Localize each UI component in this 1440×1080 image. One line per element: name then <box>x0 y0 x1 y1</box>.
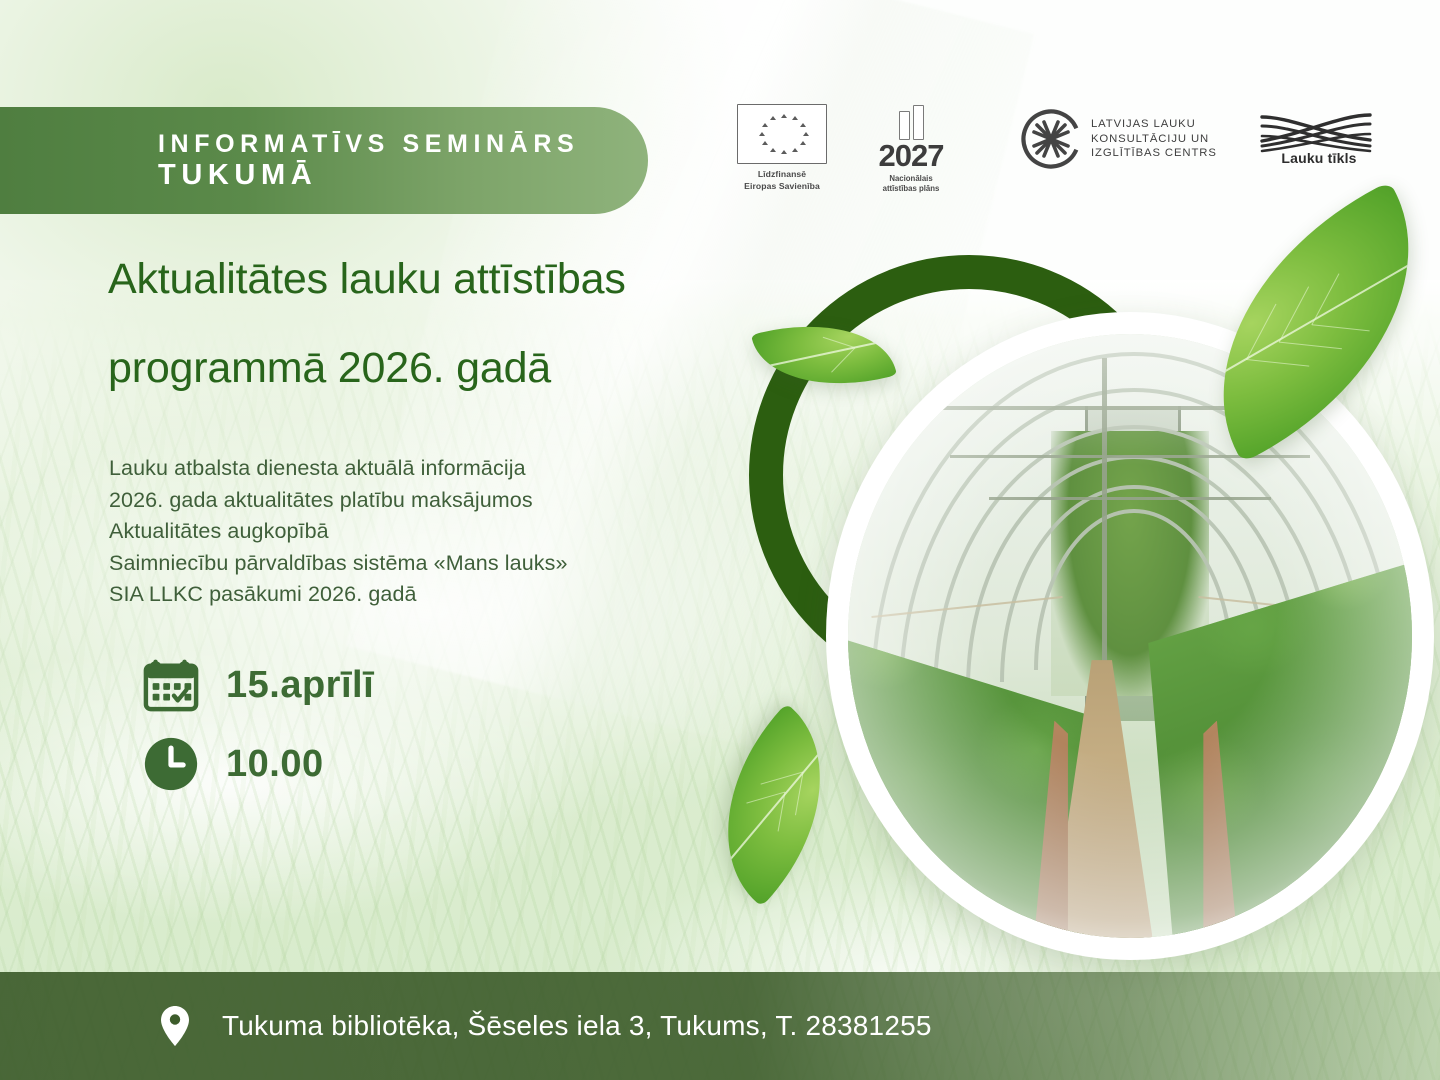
ribbon-line-1: INFORMATĪVS SEMINĀRS <box>158 130 648 160</box>
eu-caption: Līdzfinansē Eiropas Savienība <box>718 169 846 192</box>
eu-flag-icon <box>737 104 827 164</box>
eu-logo: Līdzfinansē Eiropas Savienība <box>718 104 846 192</box>
logo-strip: Līdzfinansē Eiropas Savienība 2027 Nacio… <box>718 104 1378 200</box>
eu-caption-line-1: Līdzfinansē <box>718 169 846 181</box>
venue-footer: Tukuma bibliotēka, Šēseles iela 3, Tukum… <box>0 972 1440 1080</box>
llkc-caption-line-3: IZGLĪTĪBAS CENTRS <box>1091 146 1217 161</box>
llkc-logo: LATVIJAS LAUKU KONSULTĀCIJU UN IZGLĪTĪBA… <box>1020 104 1250 170</box>
topic-item: SIA LLKC pasākumi 2026. gadā <box>109 579 749 611</box>
headline-line-1: Aktualitātes lauku attīstības <box>108 255 626 303</box>
clock-icon <box>140 736 202 792</box>
calendar-check-icon <box>140 657 202 713</box>
lauku-tikls-logo: Lauku tīkls <box>1260 104 1378 166</box>
ribbon-line-2: TUKUMĀ <box>158 159 648 191</box>
llkc-caption: LATVIJAS LAUKU KONSULTĀCIJU UN IZGLĪTĪBA… <box>1091 117 1217 162</box>
topic-item: Lauku atbalsta dienesta aktuālā informāc… <box>109 453 749 485</box>
ndp-year: 2027 <box>846 142 976 171</box>
lauku-tikls-net-icon <box>1260 110 1378 152</box>
location-pin-icon <box>160 1005 190 1047</box>
topic-item: Aktualitātes augkopībā <box>109 516 749 548</box>
event-time: 10.00 <box>226 743 324 786</box>
greenhouse-photo-image <box>848 334 1412 938</box>
ndp-caption: Nacionālais attīstības plāns <box>846 174 976 194</box>
event-date: 15.aprīlī <box>226 664 374 707</box>
ndp-caption-line-1: Nacionālais <box>846 174 976 184</box>
event-time-row: 10.00 <box>140 736 374 792</box>
llkc-caption-line-1: LATVIJAS LAUKU <box>1091 117 1217 132</box>
page-title: Aktualitātes lauku attīstības programmā … <box>108 258 808 390</box>
llkc-caption-line-2: KONSULTĀCIJU UN <box>1091 132 1217 147</box>
ndp-caption-line-2: attīstības plāns <box>846 184 976 194</box>
national-development-plan-logo: 2027 Nacionālais attīstības plāns <box>846 104 976 194</box>
poster-canvas: INFORMATĪVS SEMINĀRS TUKUMĀ Līdzfinans <box>0 0 1440 1080</box>
topic-list: Lauku atbalsta dienesta aktuālā informāc… <box>109 453 749 611</box>
headline-line-2: programmā 2026. gadā <box>108 347 808 390</box>
seminar-title-ribbon: INFORMATĪVS SEMINĀRS TUKUMĀ <box>0 107 648 214</box>
venue-address: Tukuma bibliotēka, Šēseles iela 3, Tukum… <box>222 1010 932 1042</box>
event-details: 15.aprīlī 10.00 <box>140 657 374 792</box>
ndp-bars-icon <box>846 106 976 140</box>
topic-item: 2026. gada aktualitātes platību maksājum… <box>109 485 749 517</box>
llkc-emblem-icon <box>1020 108 1082 170</box>
eu-caption-line-2: Eiropas Savienība <box>718 181 846 193</box>
event-date-row: 15.aprīlī <box>140 657 374 713</box>
greenhouse-edge-haze <box>848 334 1412 938</box>
topic-item: Saimniecību pārvaldības sistēma «Mans la… <box>109 548 749 580</box>
